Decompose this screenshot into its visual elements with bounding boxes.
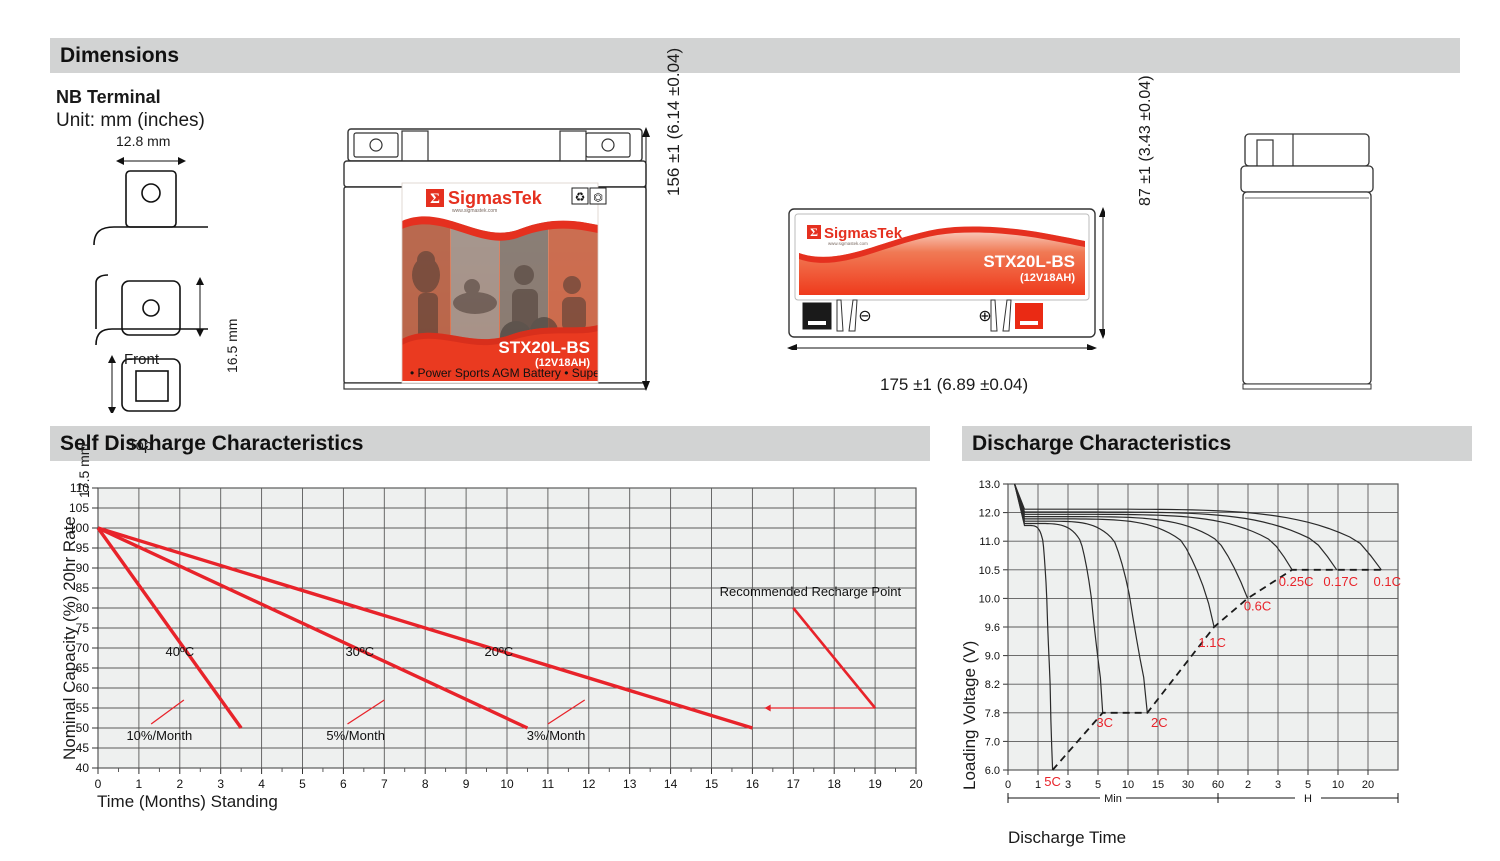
battery-side-height-dim: 87 ±1 (3.43 ±0.04) bbox=[1137, 75, 1155, 206]
chart-annotation: 40ºC bbox=[165, 644, 194, 659]
self-discharge-x-axis-title: Time (Months) Standing bbox=[97, 792, 278, 812]
section-header-dimensions-label: Dimensions bbox=[60, 44, 179, 68]
terminal-type-label: NB Terminal bbox=[56, 87, 161, 108]
battery-rating-side: (12V18AH) bbox=[1020, 272, 1075, 284]
c-rate-label: 0.17C bbox=[1323, 574, 1358, 589]
x-tick-label: 12 bbox=[582, 777, 596, 791]
x-tick-label: 5 bbox=[299, 777, 306, 791]
x-tick-label: 4 bbox=[258, 777, 265, 791]
y-tick-label: 9.6 bbox=[985, 622, 1000, 634]
x-tick-label: 10 bbox=[1122, 779, 1134, 791]
section-header-self-discharge-label: Self Discharge Characteristics bbox=[60, 432, 363, 456]
x-tick-label: 5 bbox=[1305, 779, 1311, 791]
x-tick-label: 10 bbox=[500, 777, 514, 791]
y-tick-label: 6.0 bbox=[985, 765, 1000, 777]
y-tick-label: 12.0 bbox=[979, 508, 1000, 520]
x-tick-label: 13 bbox=[623, 777, 637, 791]
y-tick-label: 9.0 bbox=[985, 651, 1000, 663]
battery-model-side: STX20L-BS bbox=[983, 252, 1075, 271]
discharge-y-axis-title: Loading Voltage (V) bbox=[960, 641, 980, 790]
c-rate-label: 2C bbox=[1151, 715, 1168, 730]
no-bin-icon: ⏣ bbox=[590, 188, 606, 204]
x-tick-label: 8 bbox=[422, 777, 429, 791]
section-header-self-discharge: Self Discharge Characteristics bbox=[50, 426, 930, 461]
section-header-discharge-label: Discharge Characteristics bbox=[972, 432, 1231, 456]
unit-note: Unit: mm (inches) bbox=[56, 110, 205, 132]
x-tick-label: 11 bbox=[542, 777, 555, 791]
brand-name-side: SigmasTek bbox=[824, 225, 903, 242]
x-tick-label: 15 bbox=[705, 777, 719, 791]
c-rate-label: 0.1C bbox=[1374, 574, 1401, 589]
chart-annotation: 5%/Month bbox=[326, 728, 385, 743]
x-tick-label: 17 bbox=[787, 777, 801, 791]
y-tick-label: 8.2 bbox=[985, 679, 1000, 691]
terminal-view-caption-front: Front bbox=[124, 351, 159, 368]
y-tick-label: 11.0 bbox=[979, 536, 1000, 548]
x-tick-label: 15 bbox=[1152, 779, 1164, 791]
x-tick-label: 3 bbox=[1065, 779, 1071, 791]
x-tick-label: 3 bbox=[217, 777, 224, 791]
battery-front-view: • Power Sports AGM Battery • Superior Pe… bbox=[340, 125, 650, 395]
section-header-dimensions: Dimensions bbox=[50, 38, 1460, 73]
x-tick-label: 5 bbox=[1095, 779, 1101, 791]
terminal-view-caption-top: Top bbox=[128, 437, 152, 454]
x-tick-label: 1 bbox=[1035, 779, 1041, 791]
x-tick-label: 30 bbox=[1182, 779, 1194, 791]
terminal-views-svg bbox=[56, 133, 296, 413]
brand-website-front: www.sigmastek.com bbox=[452, 208, 497, 214]
c-rate-label: 5C bbox=[1044, 774, 1061, 789]
chart-annotation: 30ºC bbox=[345, 644, 374, 659]
x-tick-label: 0 bbox=[1005, 779, 1011, 791]
c-rate-label: 0.25C bbox=[1279, 574, 1314, 589]
battery-end-view bbox=[1235, 128, 1380, 393]
chart-annotation: Recommended Recharge Point bbox=[720, 584, 902, 599]
x-tick-label: 2 bbox=[1245, 779, 1251, 791]
brand-website-side: www.sigmastek.com bbox=[828, 241, 868, 246]
c-rate-label: 0.6C bbox=[1244, 598, 1271, 613]
c-rate-label: 1.1C bbox=[1198, 635, 1225, 650]
y-tick-label: 7.0 bbox=[985, 736, 1000, 748]
x-tick-label: 20 bbox=[1362, 779, 1374, 791]
chart-annotation: 3%/Month bbox=[527, 728, 586, 743]
x-tick-label: 18 bbox=[828, 777, 842, 791]
x-tick-label: 7 bbox=[381, 777, 388, 791]
y-tick-label: 10.5 bbox=[979, 565, 1000, 577]
x-tick-label: 16 bbox=[746, 777, 760, 791]
x-tick-label: 19 bbox=[868, 777, 882, 791]
chart-annotation: 10%/Month bbox=[126, 728, 192, 743]
battery-front-height-dim: 156 ±1 (6.14 ±0.04) bbox=[664, 48, 684, 196]
x-tick-label: 9 bbox=[463, 777, 470, 791]
x-axis-unit-label: H bbox=[1304, 793, 1312, 805]
y-tick-label: 110 bbox=[70, 481, 89, 495]
y-tick-label: 10.0 bbox=[979, 593, 1000, 605]
svg-text:♻: ♻ bbox=[575, 190, 586, 204]
terminal-width-dim: 12.8 mm bbox=[116, 133, 170, 149]
battery-side-width-dim: 175 ±1 (6.89 ±0.04) bbox=[880, 375, 1028, 395]
recycle-icon: ♻ bbox=[572, 188, 588, 204]
x-tick-label: 10 bbox=[1332, 779, 1344, 791]
terminal-top-view bbox=[96, 275, 208, 345]
section-header-discharge: Discharge Characteristics bbox=[962, 426, 1472, 461]
terminal-depth-dim: 16.5 mm bbox=[224, 319, 240, 373]
x-tick-label: 2 bbox=[176, 777, 183, 791]
self-discharge-y-axis-title: Nominal Capacity (%) 20hr Rate bbox=[60, 516, 80, 760]
x-tick-label: 60 bbox=[1212, 779, 1224, 791]
self-discharge-chart: 0123456789101112131415161718192040455055… bbox=[50, 470, 930, 830]
y-tick-label: 7.8 bbox=[985, 708, 1000, 720]
x-tick-label: 1 bbox=[136, 777, 143, 791]
y-tick-label: 40 bbox=[76, 761, 90, 775]
terminal-front-view bbox=[94, 157, 208, 245]
svg-text:⏣: ⏣ bbox=[593, 191, 603, 204]
y-tick-label: 105 bbox=[69, 501, 89, 515]
x-tick-label: 0 bbox=[95, 777, 102, 791]
discharge-chart: 13.012.011.010.510.09.69.08.27.87.06.001… bbox=[950, 470, 1470, 855]
x-tick-label: 6 bbox=[340, 777, 347, 791]
x-tick-label: 14 bbox=[664, 777, 678, 791]
battery-rating-front: (12V18AH) bbox=[535, 357, 590, 369]
svg-text:Σ: Σ bbox=[430, 191, 440, 207]
x-tick-label: 3 bbox=[1275, 779, 1281, 791]
brand-name-front: SigmasTek bbox=[448, 188, 543, 208]
y-tick-label: 13.0 bbox=[979, 479, 1000, 491]
c-rate-label: 3C bbox=[1096, 715, 1113, 730]
discharge-x-axis-title: Discharge Time bbox=[1008, 828, 1126, 848]
battery-side-view: STX20L-BS (12V18AH) Σ SigmasTek www.sigm… bbox=[785, 205, 1105, 350]
svg-text:Σ: Σ bbox=[810, 225, 818, 239]
x-axis-unit-label: Min bbox=[1104, 793, 1122, 805]
terminal-positive-icon: ⊕ bbox=[978, 306, 991, 325]
chart-annotation: 20ºC bbox=[485, 644, 514, 659]
terminal-negative-icon: ⊖ bbox=[858, 306, 871, 325]
terminal-drawings: 12.8 mm Front Top bbox=[56, 133, 296, 413]
battery-model-front: STX20L-BS bbox=[498, 338, 590, 357]
x-tick-label: 20 bbox=[909, 777, 923, 791]
